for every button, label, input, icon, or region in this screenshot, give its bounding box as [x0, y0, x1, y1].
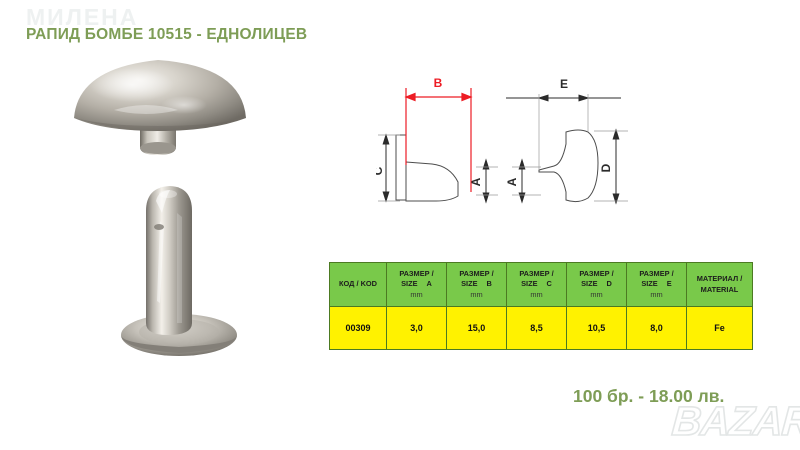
cell-size-b: 15,0 [447, 307, 507, 350]
header-cell-size-b: РАЗМЕР / SIZEB mm [447, 263, 507, 307]
dimension-label-b: B [434, 76, 443, 90]
header-size-b-unit: mm [447, 290, 506, 301]
rivet-post-photo [104, 183, 254, 369]
header-cell-size-e: РАЗМЕР / SIZEE mm [627, 263, 687, 307]
cell-code: 00309 [330, 307, 387, 350]
header-size-c-line2: SIZEC [507, 279, 566, 290]
dimension-label-c: C [376, 166, 385, 175]
header-size-a-unit: mm [387, 290, 446, 301]
cell-size-e: 8,0 [627, 307, 687, 350]
header-size-a-line1: РАЗМЕР / [387, 269, 446, 280]
dimension-label-a-right: A [505, 177, 519, 186]
product-sheet: МИЛЕНА РАПИД БОМБЕ 10515 - ЕДНОЛИЦЕВ [0, 0, 800, 450]
header-cell-material: МАТЕРИАЛ / MATERIAL [687, 263, 753, 307]
header-size-d-size: SIZE [581, 279, 597, 288]
header-cell-code: КОД / KOD [330, 263, 387, 307]
header-material-line2: MATERIAL [687, 285, 752, 296]
header-material-line1: МАТЕРИАЛ / [687, 274, 752, 285]
header-cell-size-c: РАЗМЕР / SIZEC mm [507, 263, 567, 307]
header-size-b-size: SIZE [461, 279, 477, 288]
dimension-diagram-svg: B C A [376, 70, 688, 215]
header-size-c-line1: РАЗМЕР / [507, 269, 566, 280]
header-size-a-size: SIZE [401, 279, 417, 288]
dimension-label-e: E [560, 77, 568, 91]
header-size-b-line1: РАЗМЕР / [447, 269, 506, 280]
header-size-e-letter: E [667, 279, 672, 290]
page-title: РАПИД БОМБЕ 10515 - ЕДНОЛИЦЕВ [26, 26, 307, 44]
dimension-diagram: B C A [376, 70, 688, 215]
marketplace-watermark: BAZAR [670, 398, 800, 445]
header-size-b-line2: SIZEB [447, 279, 506, 290]
table-row: 00309 3,0 15,0 8,5 10,5 8,0 Fe [330, 307, 753, 350]
header-size-a-line2: SIZEA [387, 279, 446, 290]
header-size-e-unit: mm [627, 290, 686, 301]
table-header-row: КОД / KOD РАЗМЕР / SIZEA mm РАЗМЕР / SIZ… [330, 263, 753, 307]
rivet-cap-illustration [62, 52, 272, 182]
dimension-label-a-left: A [469, 177, 483, 186]
header-size-e-size: SIZE [641, 279, 657, 288]
cell-size-d: 10,5 [567, 307, 627, 350]
header-size-c-size: SIZE [521, 279, 537, 288]
table-body: 00309 3,0 15,0 8,5 10,5 8,0 Fe [330, 307, 753, 350]
cell-material: Fe [687, 307, 753, 350]
header-cell-size-a: РАЗМЕР / SIZEA mm [387, 263, 447, 307]
header-size-c-unit: mm [507, 290, 566, 301]
header-size-e-line1: РАЗМЕР / [627, 269, 686, 280]
header-size-d-line1: РАЗМЕР / [567, 269, 626, 280]
header-cell-size-d: РАЗМЕР / SIZED mm [567, 263, 627, 307]
cell-size-a: 3,0 [387, 307, 447, 350]
dimension-label-d: D [599, 163, 613, 172]
cell-size-c: 8,5 [507, 307, 567, 350]
header-size-d-letter: D [607, 279, 612, 290]
header-size-a-letter: A [427, 279, 432, 290]
header-size-d-line2: SIZED [567, 279, 626, 290]
rivet-post-illustration [104, 183, 254, 369]
header-size-e-line2: SIZEE [627, 279, 686, 290]
header-size-d-unit: mm [567, 290, 626, 301]
header-size-c-letter: C [547, 279, 552, 290]
rivet-cap-photo [62, 52, 272, 182]
header-size-b-letter: B [487, 279, 492, 290]
header-code-label: КОД / KOD [330, 279, 386, 290]
table-header: КОД / KOD РАЗМЕР / SIZEA mm РАЗМЕР / SIZ… [330, 263, 753, 307]
specification-table: КОД / KOD РАЗМЕР / SIZEA mm РАЗМЕР / SIZ… [329, 262, 753, 350]
